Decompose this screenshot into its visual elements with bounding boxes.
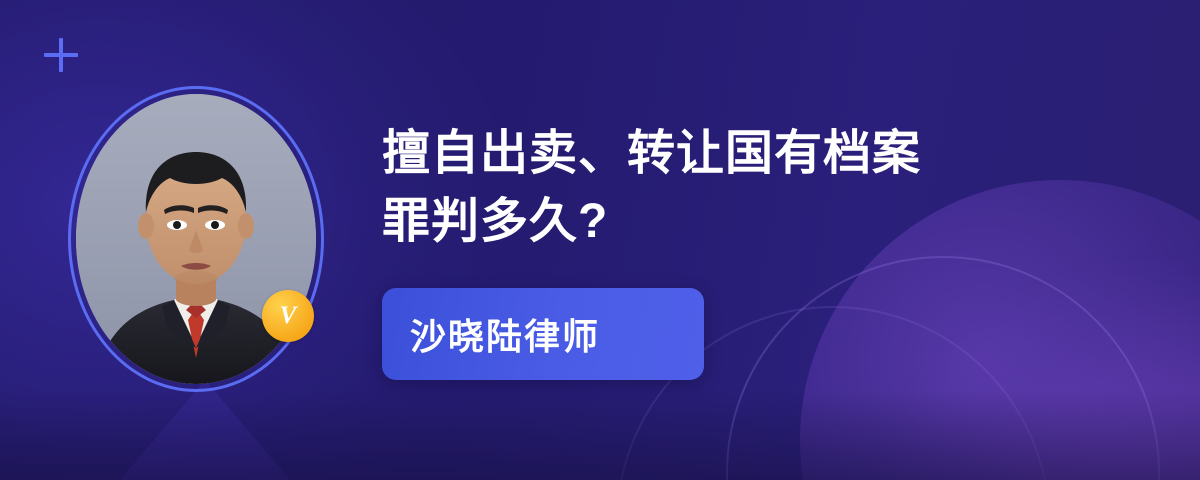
avatar: V [68, 86, 330, 396]
headline-line-2: 罪判多久? [382, 188, 1122, 256]
avatar-ring [68, 86, 324, 392]
headline: 擅自出卖、转让国有档案 罪判多久? [382, 120, 1122, 256]
background-bottom-shade [0, 390, 1200, 480]
plus-icon [44, 38, 78, 72]
promo-card: V 擅自出卖、转让国有档案 罪判多久? 沙晓陆律师 [0, 0, 1200, 480]
verified-badge-label: V [280, 303, 297, 328]
lawyer-name-label: 沙晓陆律师 [382, 308, 600, 360]
verified-badge: V [262, 290, 314, 342]
headline-line-1: 擅自出卖、转让国有档案 [382, 120, 1122, 188]
lawyer-name-pill[interactable]: 沙晓陆律师 [382, 288, 704, 380]
